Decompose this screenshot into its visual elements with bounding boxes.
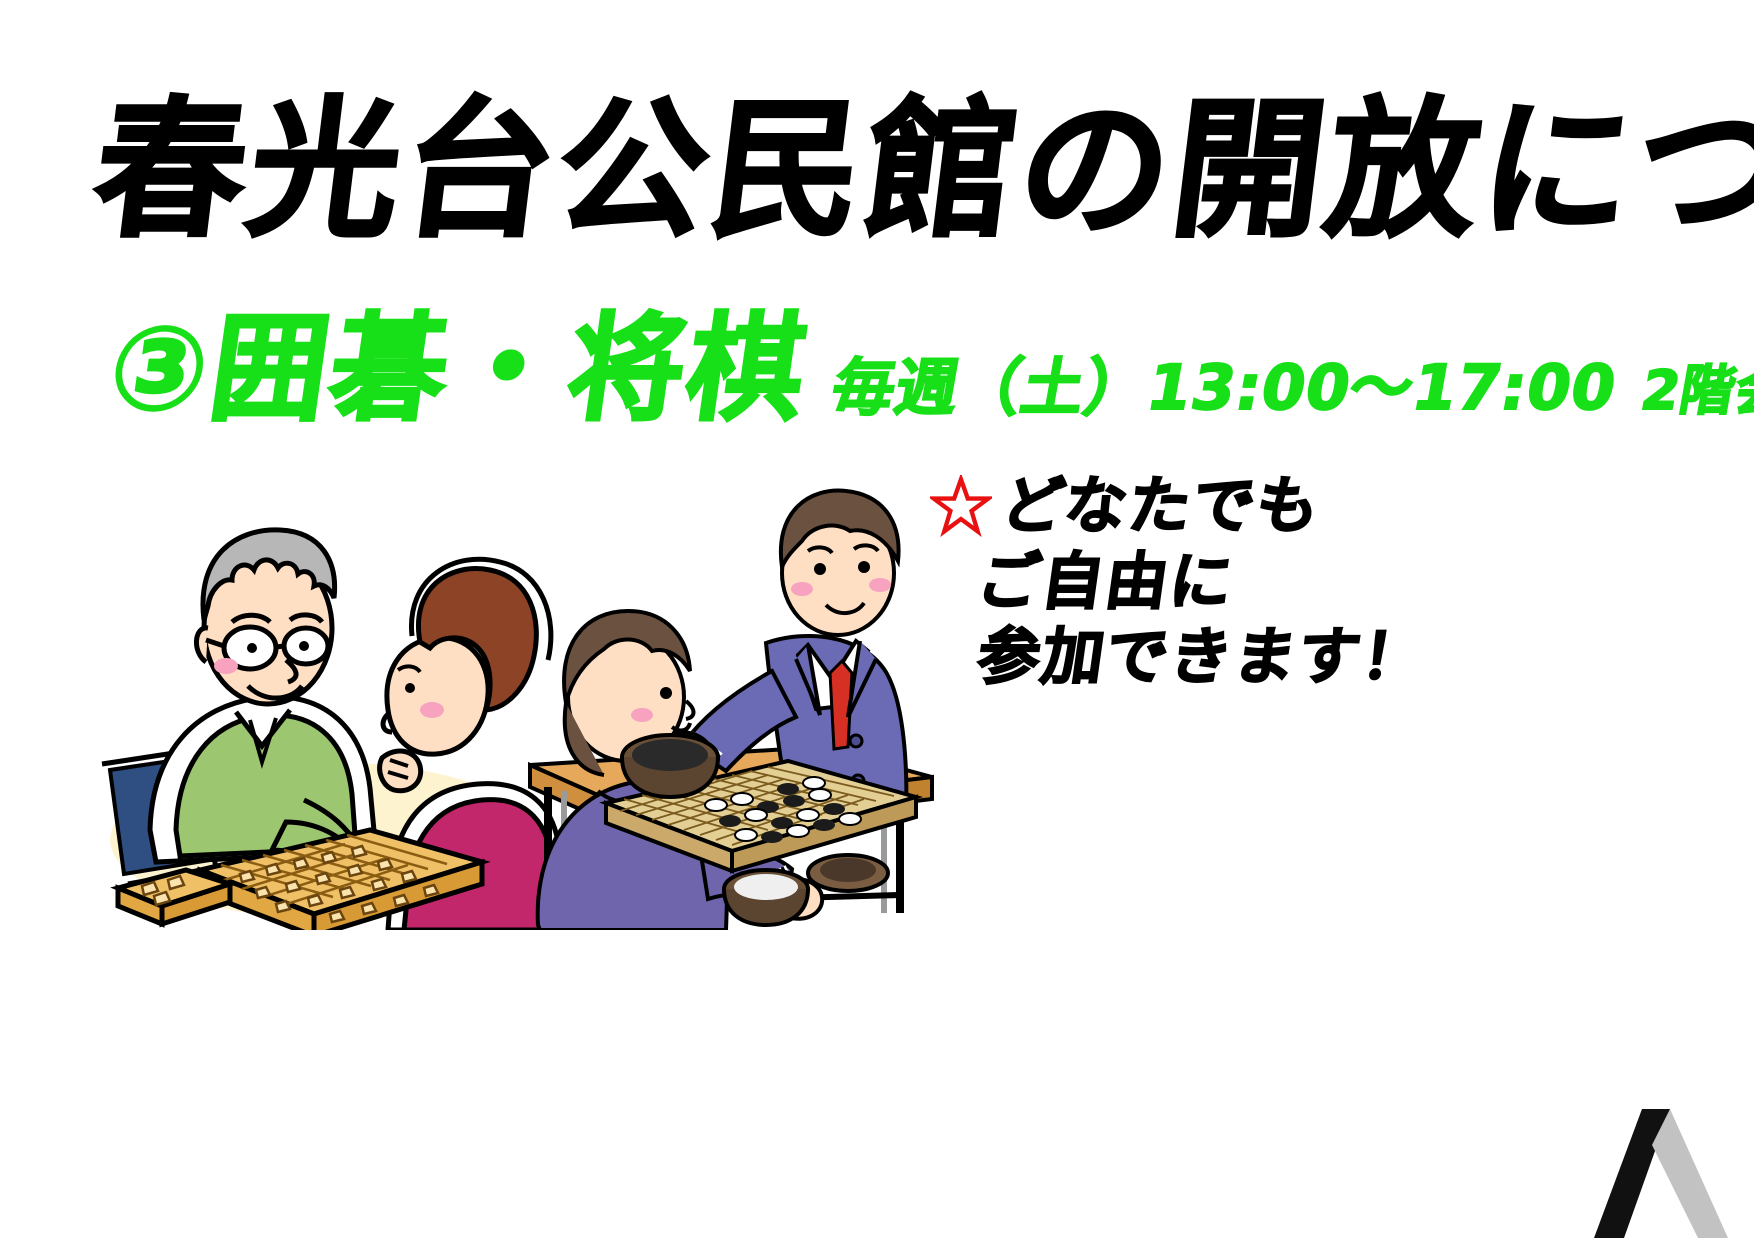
note-text: 参加できます！ <box>973 619 1432 695</box>
go-players-illustration <box>520 465 940 930</box>
note-line: どなたでも <box>925 468 1456 544</box>
program-name: 囲碁・将棋 <box>204 312 815 428</box>
program-room: 2階会議室 <box>1637 364 1754 418</box>
note-line: 参加できます！ <box>925 619 1456 695</box>
poster-canvas: 春光台公民館の開放について ③ 囲碁・将棋 毎週（土）13:00～17:00 2… <box>0 0 1754 1240</box>
program-number: ③ <box>102 312 217 428</box>
program-heading-row: ③ 囲碁・将棋 毎週（土）13:00～17:00 2階会議室 <box>110 312 1754 428</box>
notes-block: どなたでも ご自由に 参加できます！ <box>930 468 1450 695</box>
asahikawa-logo <box>1578 1103 1728 1238</box>
note-line: ご自由に <box>925 544 1456 620</box>
program-schedule: 毎週（土）13:00～17:00 <box>828 357 1622 419</box>
note-text: ご自由に <box>973 544 1240 620</box>
page-title: 春光台公民館の開放について <box>87 96 1425 246</box>
note-text: どなたでも <box>997 468 1326 544</box>
shogi-players-illustration <box>90 470 560 930</box>
